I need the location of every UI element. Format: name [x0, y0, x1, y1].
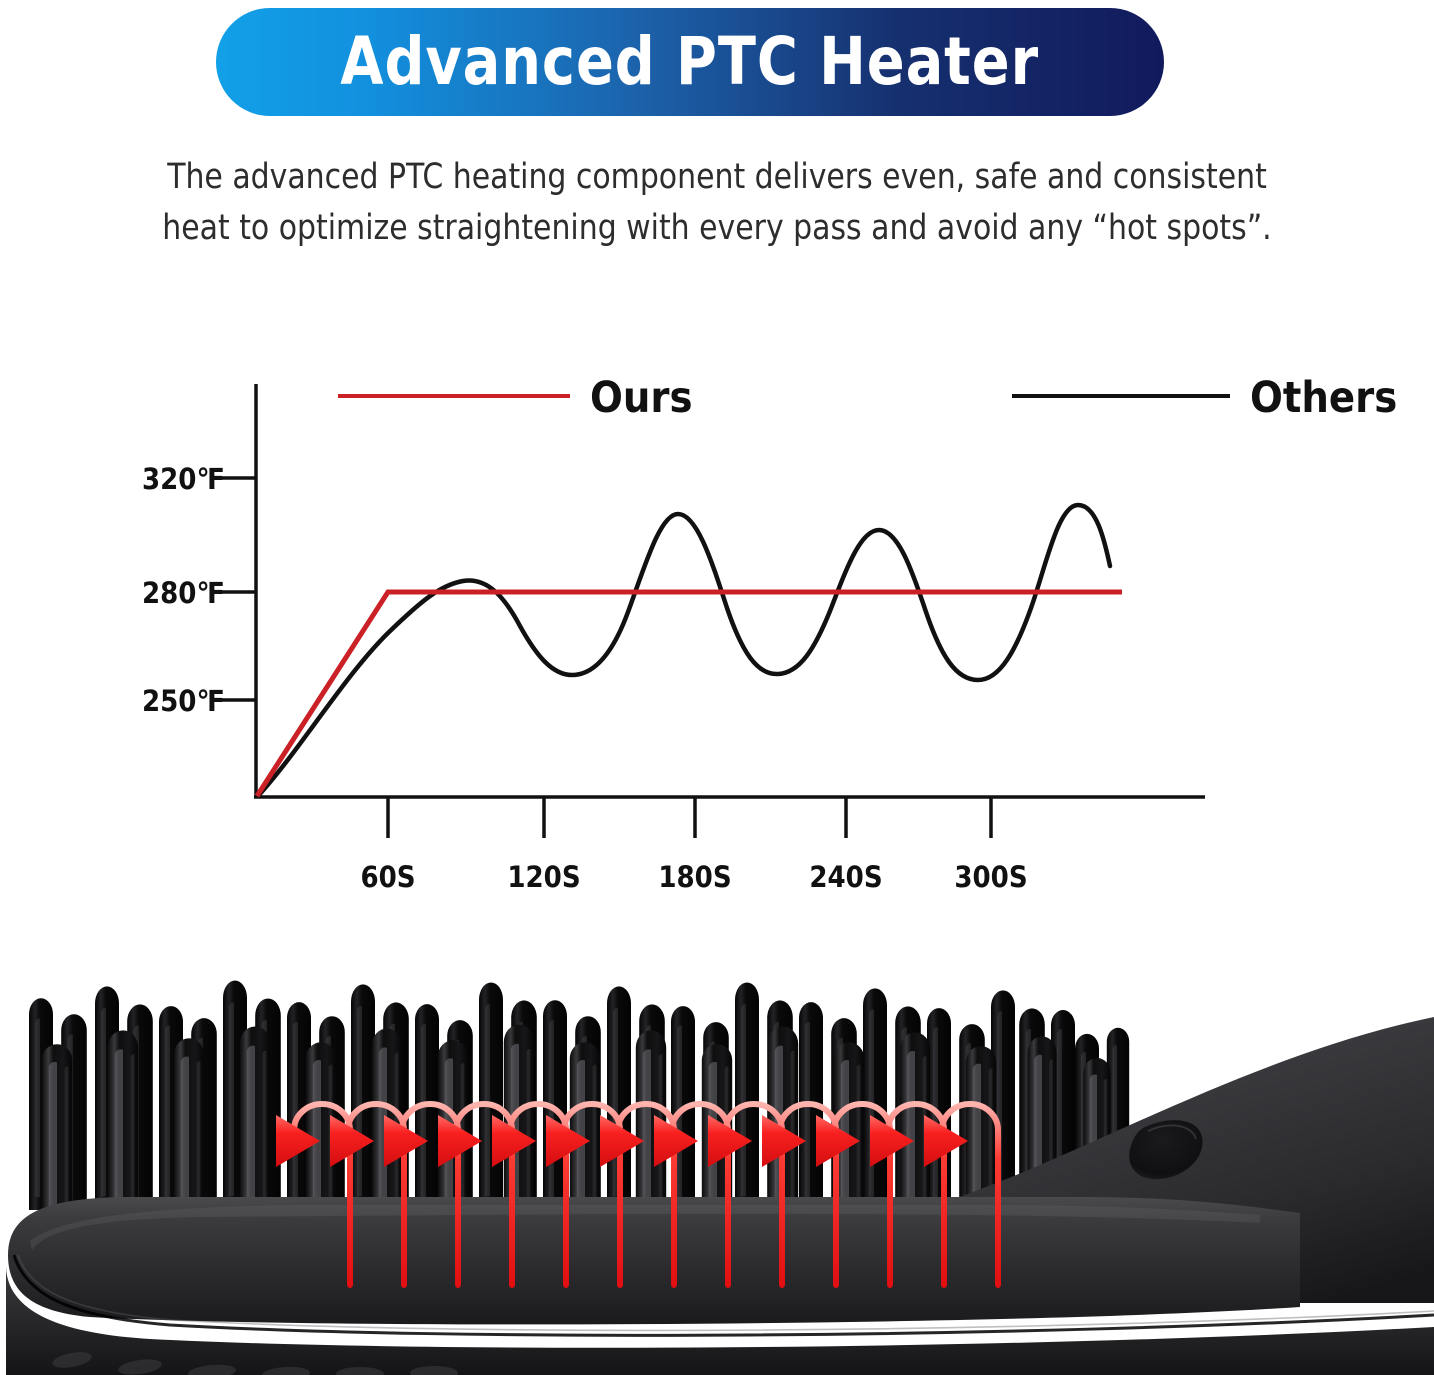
y-tick-label-250: 250℉ [142, 684, 225, 718]
chart-svg: Ours Others 320℉ 280℉ 250℉ 60S 120S 180S [0, 330, 1434, 890]
y-tick-label-320: 320℉ [142, 462, 225, 496]
handle-vent-recess [1129, 956, 1202, 1179]
page-title: Advanced PTC Heater [341, 29, 1040, 95]
description-line-1: The advanced PTC heating component deliv… [93, 152, 1341, 203]
product-image-straightening-brush [0, 955, 1434, 1375]
x-tick-label-240: 240S [809, 860, 882, 890]
description-line-2: heat to optimize straightening with ever… [93, 203, 1341, 254]
y-tick-label-280: 280℉ [142, 576, 225, 610]
x-tick-label-180: 180S [658, 860, 731, 890]
series-line-others [258, 505, 1110, 796]
x-tick-label-60: 60S [360, 860, 415, 890]
description-paragraph: The advanced PTC heating component deliv… [93, 152, 1341, 254]
legend-label-others: Others [1250, 373, 1397, 423]
y-axis-ticks: 320℉ 280℉ 250℉ [142, 462, 256, 718]
product-illustration [0, 955, 1434, 1375]
series-line-ours [257, 592, 1122, 796]
temperature-stability-chart: Ours Others 320℉ 280℉ 250℉ 60S 120S 180S [0, 330, 1434, 890]
page-title-banner: Advanced PTC Heater [216, 8, 1164, 116]
legend-label-ours: Ours [590, 373, 693, 423]
x-tick-label-120: 120S [507, 860, 580, 890]
x-tick-label-300: 300S [954, 860, 1027, 890]
chart-legend: Ours Others [338, 373, 1397, 423]
x-axis-ticks: 60S 120S 180S 240S 300S [360, 797, 1027, 890]
